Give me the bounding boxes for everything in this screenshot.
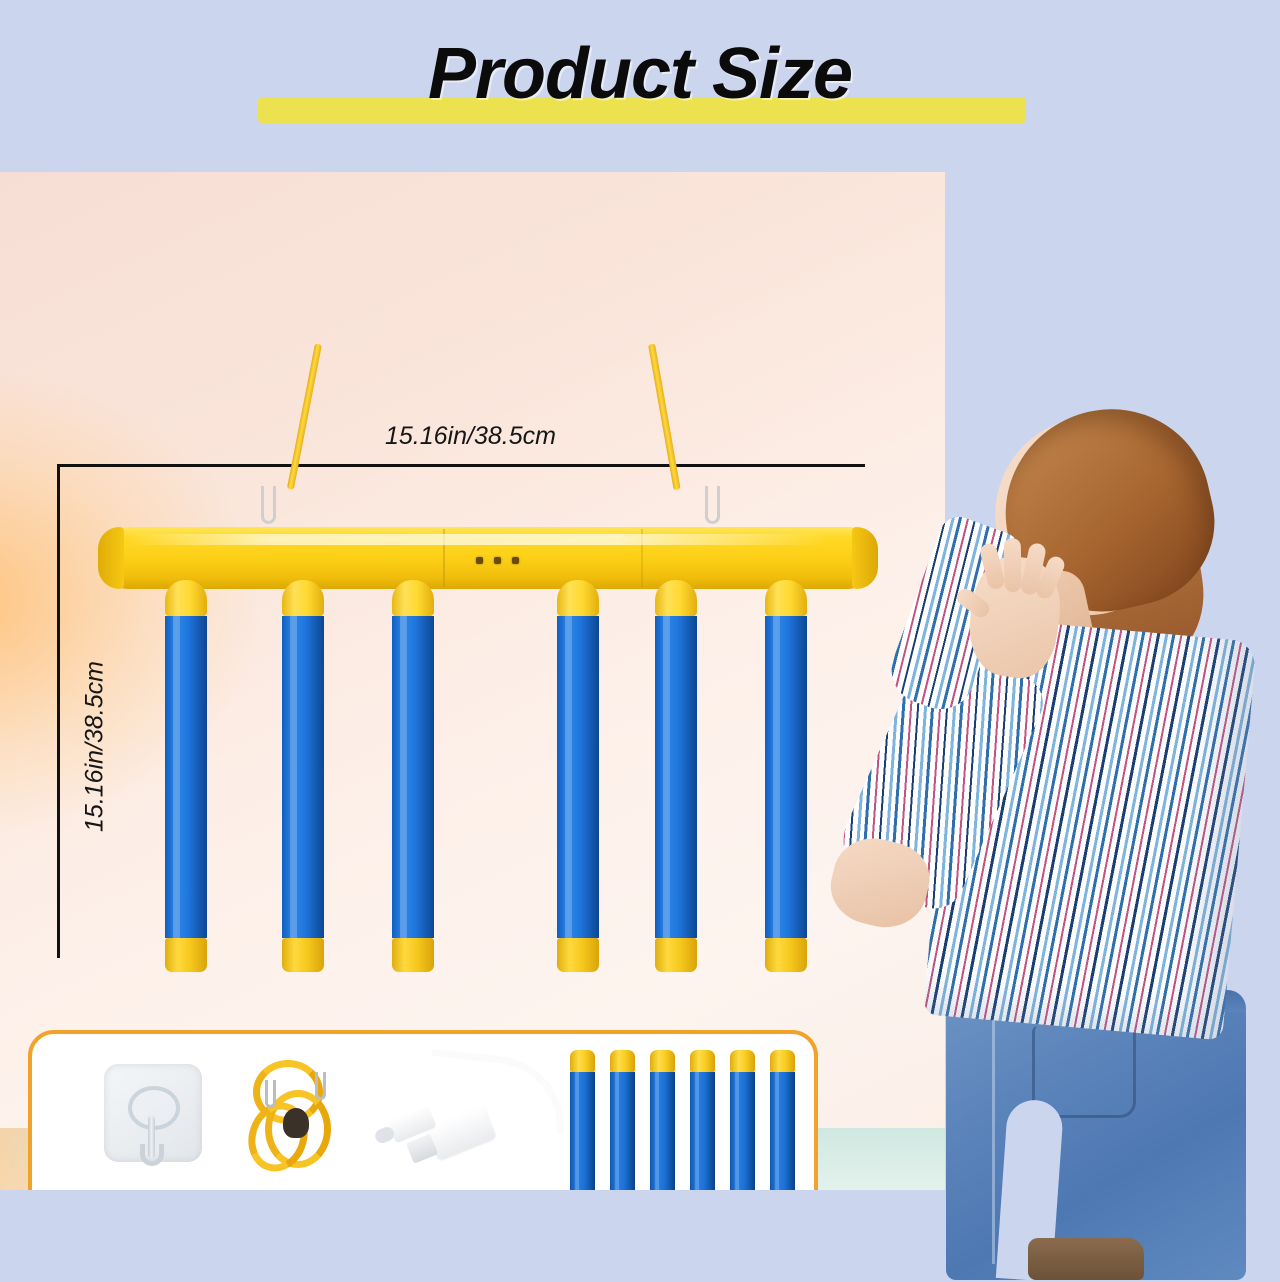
height-dimension-label: 15.16in/38.5cm [81,627,110,867]
stick-top-cap [655,580,697,616]
stick-top-cap [765,580,807,616]
spare-stick [730,1050,755,1190]
spare-stick-top-cap [570,1050,595,1072]
jeans-seam [992,1004,995,1264]
spare-stick [690,1050,715,1190]
spare-stick [770,1050,795,1190]
hanging-stick [557,580,599,972]
strap-clip-left-icon [261,486,276,524]
stick-bottom-cap [655,938,697,972]
spare-stick [570,1050,595,1190]
rope-clip-icon [265,1080,276,1108]
hanging-stick [165,580,207,972]
bar-end-cap-left [98,527,124,589]
yellow-rope-lanyard [247,1056,347,1181]
finger [979,542,1007,591]
hanging-strap-left [287,343,322,490]
header: Product Size [0,0,1280,172]
thumb [953,586,992,621]
spare-stick-body [650,1072,675,1190]
spare-stick [610,1050,635,1190]
led-indicator [512,557,519,564]
spare-stick-body [690,1072,715,1190]
stick-body [765,616,807,938]
width-dimension-line [57,464,865,467]
spare-stick-top-cap [650,1050,675,1072]
stick-bottom-cap [165,938,207,972]
spare-stick-body [730,1072,755,1190]
child-figure [820,400,1280,1280]
width-dimension-label: 15.16in/38.5cm [385,422,556,451]
stick-top-cap [282,580,324,616]
spare-sticks-group [570,1050,800,1190]
usb-charging-cable [392,1056,562,1176]
usb-a-metal-tip [406,1134,438,1164]
spare-stick-top-cap [610,1050,635,1072]
hanging-stick [655,580,697,972]
led-indicator [476,557,483,564]
spare-stick-body [610,1072,635,1190]
rope-knot [283,1108,309,1138]
hanging-stick [392,580,434,972]
hanging-strap-right [648,343,681,490]
hook-curl-icon [140,1144,164,1166]
stick-bottom-cap [392,938,434,972]
adhesive-wall-hook [104,1064,202,1162]
stick-top-cap [557,580,599,616]
page-title: Product Size [0,38,1280,110]
rope-clip-icon [315,1072,326,1100]
stick-body [282,616,324,938]
usb-c-metal-tip [373,1125,396,1145]
product-photo-panel: 15.16in/38.5cm 15.16in/38.5cm [0,172,945,1190]
hanging-stick [282,580,324,972]
finger [1004,538,1022,592]
height-dimension-line [57,464,60,958]
spare-stick-top-cap [690,1050,715,1072]
stick-bottom-cap [557,938,599,972]
child-shoe [1028,1238,1144,1280]
spare-stick [650,1050,675,1190]
spare-stick-top-cap [730,1050,755,1072]
stick-body [655,616,697,938]
stick-bottom-cap [282,938,324,972]
led-indicator [494,557,501,564]
strap-clip-right-icon [705,486,720,524]
main-product-bar [98,527,878,589]
spare-stick-top-cap [770,1050,795,1072]
stick-top-cap [392,580,434,616]
bar-led-indicators [476,557,519,564]
stick-body [392,616,434,938]
stick-body [165,616,207,938]
stick-body [557,616,599,938]
spare-stick-body [570,1072,595,1190]
spare-stick-body [770,1072,795,1190]
bar-highlight [128,534,828,545]
hanging-stick [765,580,807,972]
stick-bottom-cap [765,938,807,972]
stick-top-cap [165,580,207,616]
